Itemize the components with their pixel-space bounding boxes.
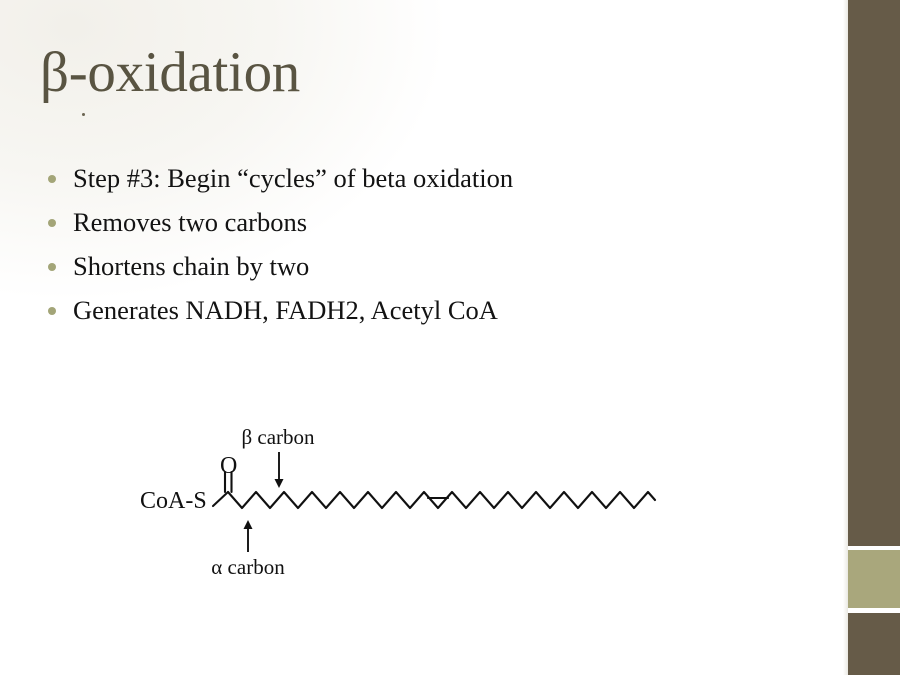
sidebar-band-accent bbox=[848, 550, 900, 608]
bullet-text: Step #3: Begin “cycles” of beta oxidatio… bbox=[73, 164, 513, 194]
list-item: Generates NADH, FADH2, Acetyl CoA bbox=[48, 289, 808, 333]
alpha-carbon-label: α carbon bbox=[211, 555, 284, 580]
bullet-text: Removes two carbons bbox=[73, 208, 307, 238]
thioester-label: CoA-S bbox=[140, 488, 207, 515]
bullet-text: Generates NADH, FADH2, Acetyl CoA bbox=[73, 296, 498, 326]
bullet-dot-icon bbox=[48, 219, 56, 227]
beta-carbon-arrow bbox=[275, 452, 284, 488]
acyl-chain-zigzag bbox=[228, 492, 655, 508]
sidebar-band-bottom bbox=[848, 613, 900, 675]
title-speck-artifact bbox=[82, 113, 85, 116]
sidebar-band-top bbox=[848, 0, 900, 546]
bullet-dot-icon bbox=[48, 175, 56, 183]
slide-title: β-oxidation bbox=[40, 44, 300, 101]
list-item: Removes two carbons bbox=[48, 201, 808, 245]
thioester-bond bbox=[213, 492, 228, 506]
bullet-dot-icon bbox=[48, 263, 56, 271]
bullet-list: Step #3: Begin “cycles” of beta oxidatio… bbox=[48, 157, 808, 333]
list-item: Step #3: Begin “cycles” of beta oxidatio… bbox=[48, 157, 808, 201]
list-item: Shortens chain by two bbox=[48, 245, 808, 289]
bullet-text: Shortens chain by two bbox=[73, 252, 309, 282]
alpha-carbon-arrow bbox=[244, 520, 253, 552]
bullet-dot-icon bbox=[48, 307, 56, 315]
slide: β-oxidation Step #3: Begin “cycles” of b… bbox=[0, 0, 900, 675]
sidebar-decoration bbox=[843, 0, 900, 675]
carbonyl-oxygen-label: O bbox=[220, 453, 237, 480]
beta-carbon-label: β carbon bbox=[241, 425, 314, 450]
carbon-skeleton bbox=[213, 472, 655, 508]
